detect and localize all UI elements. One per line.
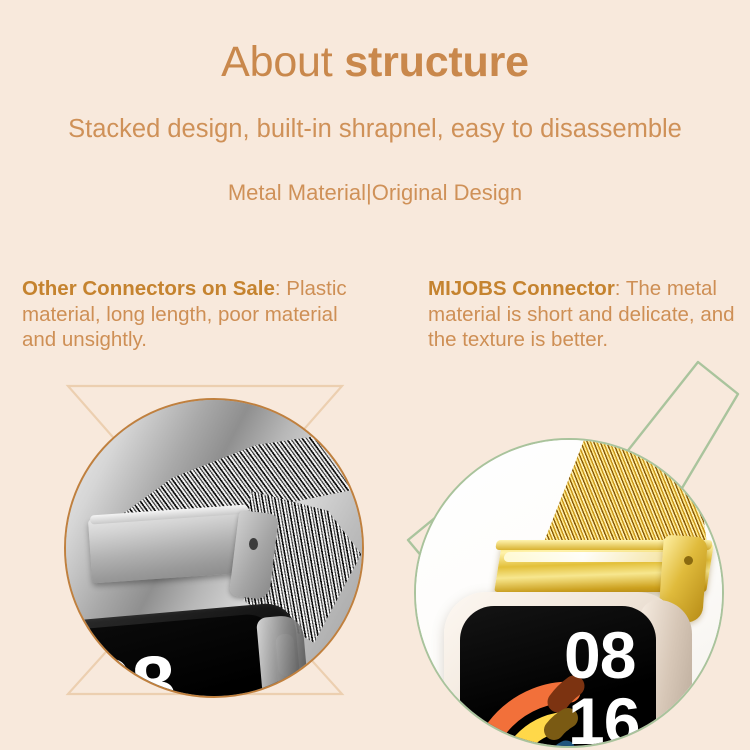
caption-left-colon: :: [275, 277, 281, 300]
watch-time-minutes-right: 16: [568, 688, 639, 748]
gold-hinge-pin-icon: [684, 556, 693, 565]
subtitle-secondary: Metal Material|Original Design: [0, 180, 750, 206]
watch-time-hours-right: 08: [564, 622, 635, 688]
page-title-light: About: [221, 38, 344, 86]
subtitle-primary: Stacked design, built-in shrapnel, easy …: [0, 114, 750, 144]
caption-left-lead: Other Connectors on Sale: [22, 277, 275, 300]
page-title-bold: structure: [344, 38, 529, 86]
gold-connector-photo: 08 16: [414, 438, 724, 748]
product-comparison-page: About structure Stacked design, built-in…: [0, 0, 750, 750]
watch-time-hours-left: 08: [87, 643, 177, 698]
caption-right: MIJOBS Connector: The metal material is …: [428, 276, 746, 353]
caption-right-lead: MIJOBS Connector: [428, 277, 615, 300]
page-title: About structure: [0, 38, 750, 86]
silver-connector-photo: 08: [64, 398, 364, 698]
caption-left: Other Connectors on Sale: Plastic materi…: [22, 276, 372, 353]
silver-hinge-pin-icon: [249, 538, 258, 550]
